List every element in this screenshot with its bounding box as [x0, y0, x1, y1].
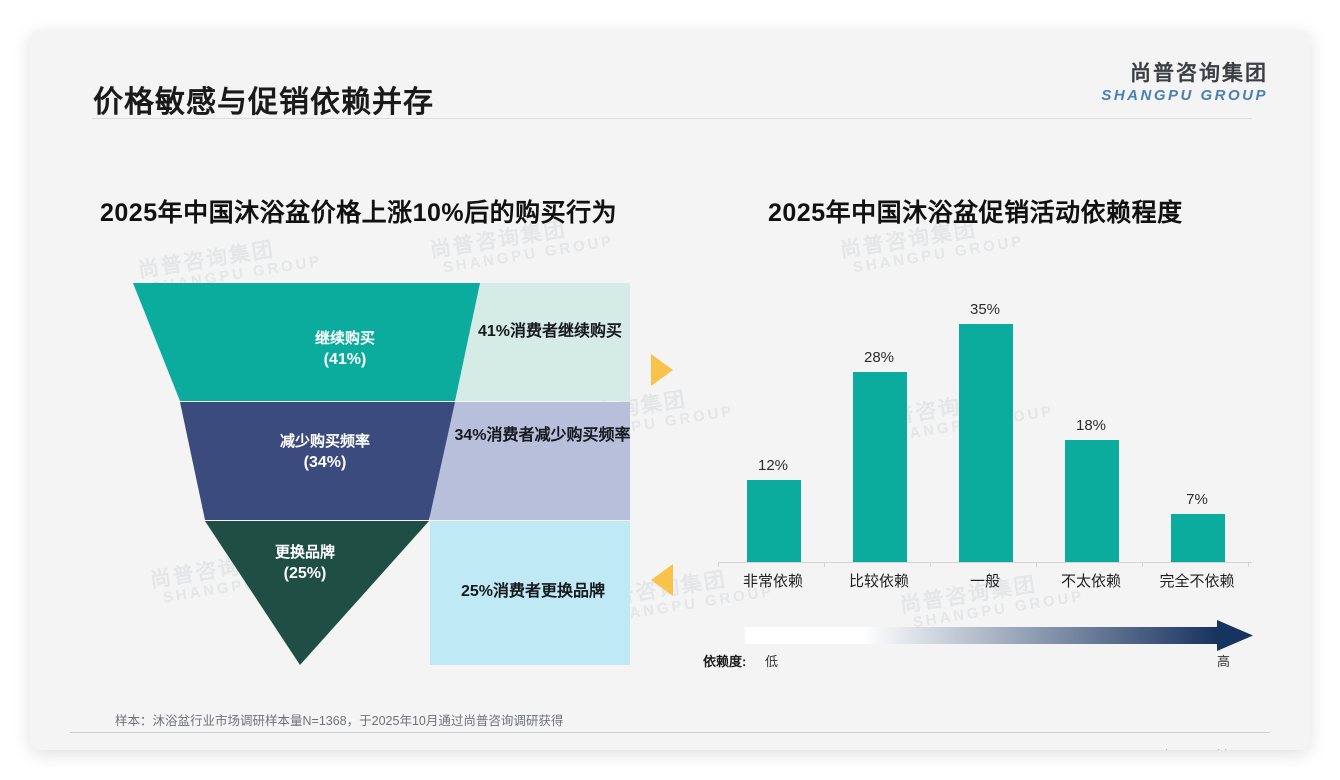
bar-value-label: 35% — [932, 301, 1038, 318]
triangle-left-icon — [648, 562, 676, 603]
legend-high-label: 高 — [1217, 651, 1230, 670]
axis-tick — [930, 562, 931, 567]
funnel-panel-text-2: 25%消费者更换品牌 — [418, 579, 648, 605]
triangle-right-icon — [648, 352, 676, 393]
footer-copyright: ©2025.12 SHANGPU GROUP — [72, 748, 241, 750]
bar-rect[interactable] — [853, 372, 907, 562]
brand-logo: 尚普咨询集团 SHANGPU GROUP — [1101, 62, 1268, 105]
funnel-panel-text-1: 34%消费者减少购买频率 — [440, 423, 645, 449]
funnel-label-1-name: 减少购买频率 — [280, 433, 370, 450]
bar-rect[interactable] — [747, 480, 801, 562]
source-note: 样本：沐浴盆行业市场调研样本量N=1368，于2025年10月通过尚普咨询调研获… — [115, 710, 563, 729]
bar-category-label: 一般 — [932, 570, 1038, 591]
bar-category-label: 比较依赖 — [826, 570, 932, 591]
bar-category-label: 不太依赖 — [1038, 570, 1144, 591]
page-title: 价格敏感与促销依赖并存 — [93, 77, 434, 121]
funnel-label-2-value: (25%) — [284, 565, 327, 582]
right-chart-title: 2025年中国沐浴盆促销活动依赖程度 — [768, 193, 1183, 229]
footer-website[interactable]: www.shangpu-china.com — [1129, 748, 1268, 750]
bar-category-label: 非常依赖 — [720, 570, 826, 591]
x-axis-line — [718, 562, 1252, 563]
bar-rect[interactable] — [1171, 514, 1225, 562]
axis-tick — [1248, 562, 1249, 567]
left-chart-title: 2025年中国沐浴盆价格上涨10%后的购买行为 — [100, 193, 617, 229]
logo-en-text: SHANGPU GROUP — [1101, 87, 1268, 105]
logo-cn-text: 尚普咨询集团 — [1101, 62, 1268, 87]
gradient-arrow-icon — [690, 618, 1280, 652]
slide-card: 尚普咨询集团 SHANGPU GROUP 尚普咨询集团 SHANGPU GROU… — [30, 30, 1310, 750]
bar-category-label: 完全不依赖 — [1144, 570, 1250, 591]
bar-value-label: 28% — [826, 349, 932, 366]
funnel-label-1: 减少购买频率 (34%) — [240, 432, 410, 474]
funnel-label-2-name: 更换品牌 — [275, 544, 335, 561]
header-divider — [92, 118, 1252, 119]
axis-tick — [1142, 562, 1143, 567]
funnel-chart: 继续购买 (41%) 减少购买频率 (34%) 更换品牌 (25%) 41%消费… — [100, 255, 670, 675]
funnel-label-2: 更换品牌 (25%) — [245, 543, 365, 585]
bar-value-label: 18% — [1038, 417, 1144, 434]
dependency-gradient-legend: 依赖度: 低 高 — [690, 618, 1280, 680]
axis-tick — [824, 562, 825, 567]
slide-footer: ©2025.12 SHANGPU GROUP www.shangpu-china… — [30, 736, 1310, 750]
funnel-label-0-value: (41%) — [324, 351, 367, 368]
slide-header: 价格敏感与促销依赖并存 尚普咨询集团 SHANGPU GROUP — [30, 30, 1310, 116]
dependency-bar-chart: 12%28%35%18%7% 非常依赖比较依赖一般不太依赖完全不依赖 — [690, 260, 1270, 590]
funnel-panel-1 — [430, 402, 630, 520]
funnel-label-1-value: (34%) — [304, 454, 347, 471]
bar-plot-area: 12%28%35%18%7% — [720, 290, 1250, 562]
bar-rect[interactable] — [959, 324, 1013, 562]
bar-rect[interactable] — [1065, 440, 1119, 562]
bar-value-label: 12% — [720, 457, 826, 474]
axis-tick — [718, 562, 719, 567]
bar-value-label: 7% — [1144, 491, 1250, 508]
funnel-panel-text-0: 41%消费者继续购买 — [450, 319, 650, 345]
legend-low-label: 低 — [765, 651, 778, 670]
legend-prefix: 依赖度: — [703, 651, 746, 670]
footer-divider — [70, 732, 1270, 733]
funnel-label-0: 继续购买 (41%) — [275, 329, 415, 371]
funnel-label-0-name: 继续购买 — [315, 330, 375, 347]
axis-tick — [1036, 562, 1037, 567]
